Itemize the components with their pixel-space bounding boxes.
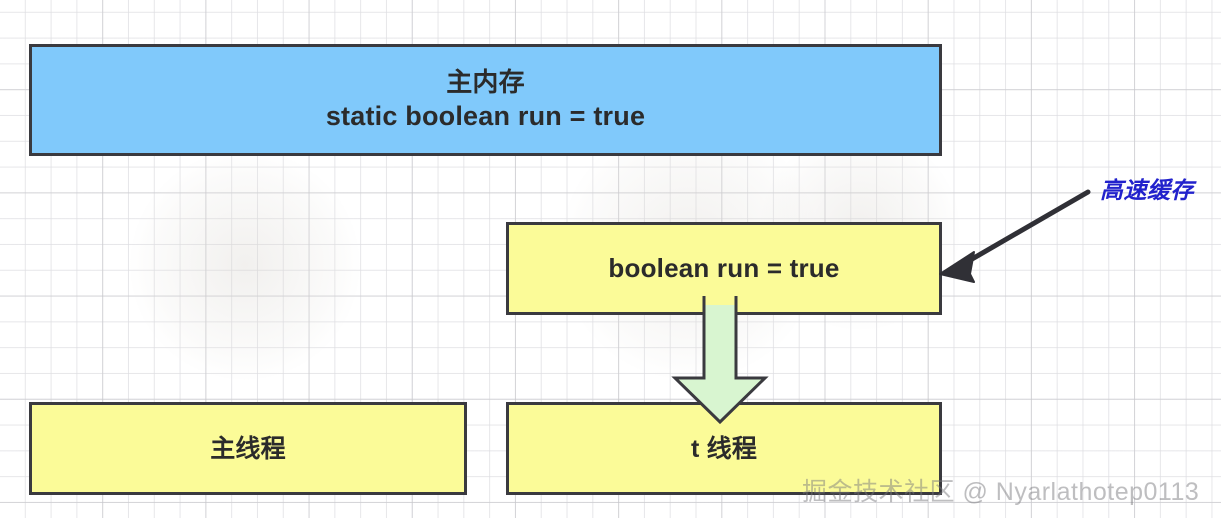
diagram-canvas: 主内存 static boolean run = true boolean ru… xyxy=(0,0,1221,518)
main-memory-box: 主内存 static boolean run = true xyxy=(29,44,942,156)
cache-callout-label: 高速缓存 xyxy=(1100,171,1194,205)
main-memory-variable: static boolean run = true xyxy=(326,99,645,134)
callout-arrow-icon xyxy=(930,170,1105,290)
thread-cache-box: boolean run = true xyxy=(506,222,942,315)
t-thread-label: t 线程 xyxy=(691,433,757,465)
watermark-text: 掘金技术社区 @ Nyarlathotep0113 xyxy=(802,472,1199,508)
main-memory-title: 主内存 xyxy=(446,66,525,99)
main-thread-label: 主线程 xyxy=(210,433,286,465)
thread-cache-variable: boolean run = true xyxy=(608,252,839,285)
main-thread-box: 主线程 xyxy=(29,402,467,495)
paper-texture-blob xyxy=(130,150,360,380)
